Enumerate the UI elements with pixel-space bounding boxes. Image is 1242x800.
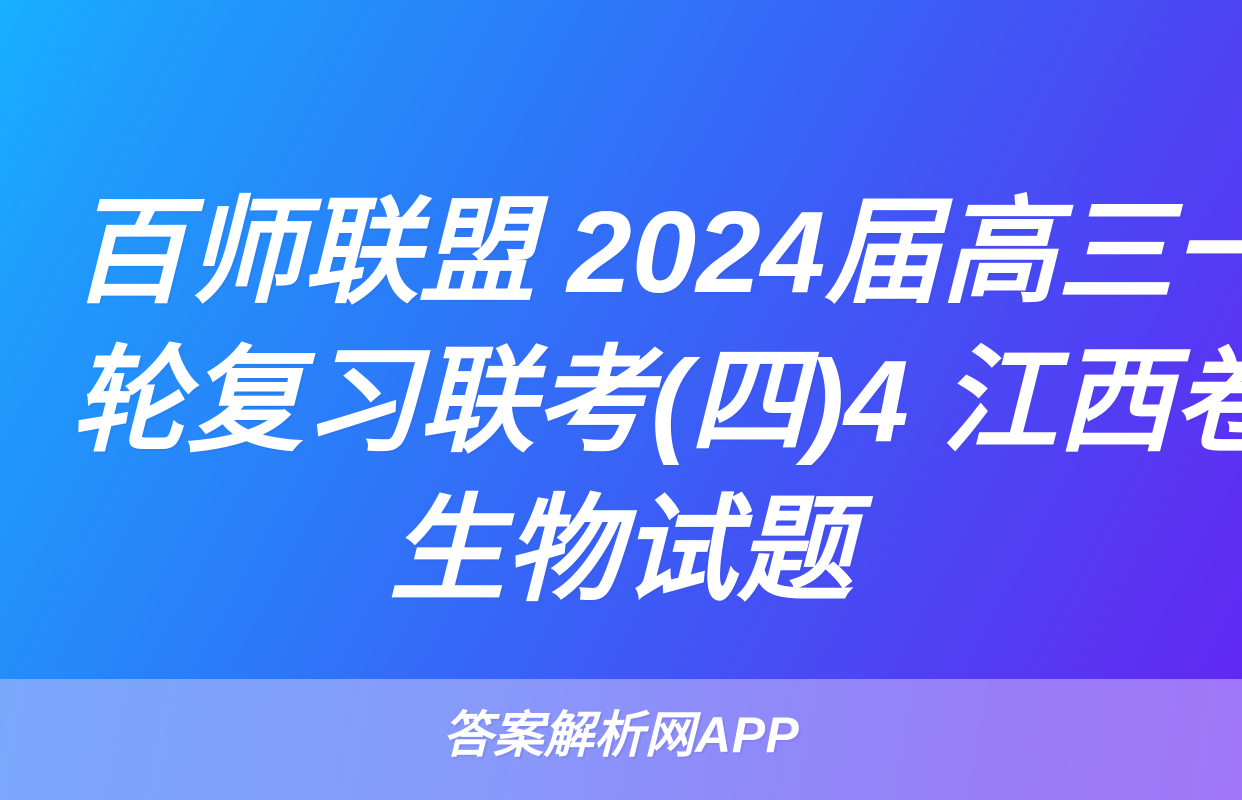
exam-title-card: 百师联盟 2024届高三一 轮复习联考(四)4 江西卷 生物试题 答案解析网AP… [0,0,1242,800]
page-title-line-2: 轮复习联考(四)4 江西卷 [71,327,1171,476]
page-title-line-1: 百师联盟 2024届高三一 [71,178,1171,327]
watermark-brand-label: 答案解析网APP [0,706,1242,764]
page-title-line-3: 生物试题 [71,476,1171,625]
page-title: 百师联盟 2024届高三一 轮复习联考(四)4 江西卷 生物试题 [71,178,1171,625]
